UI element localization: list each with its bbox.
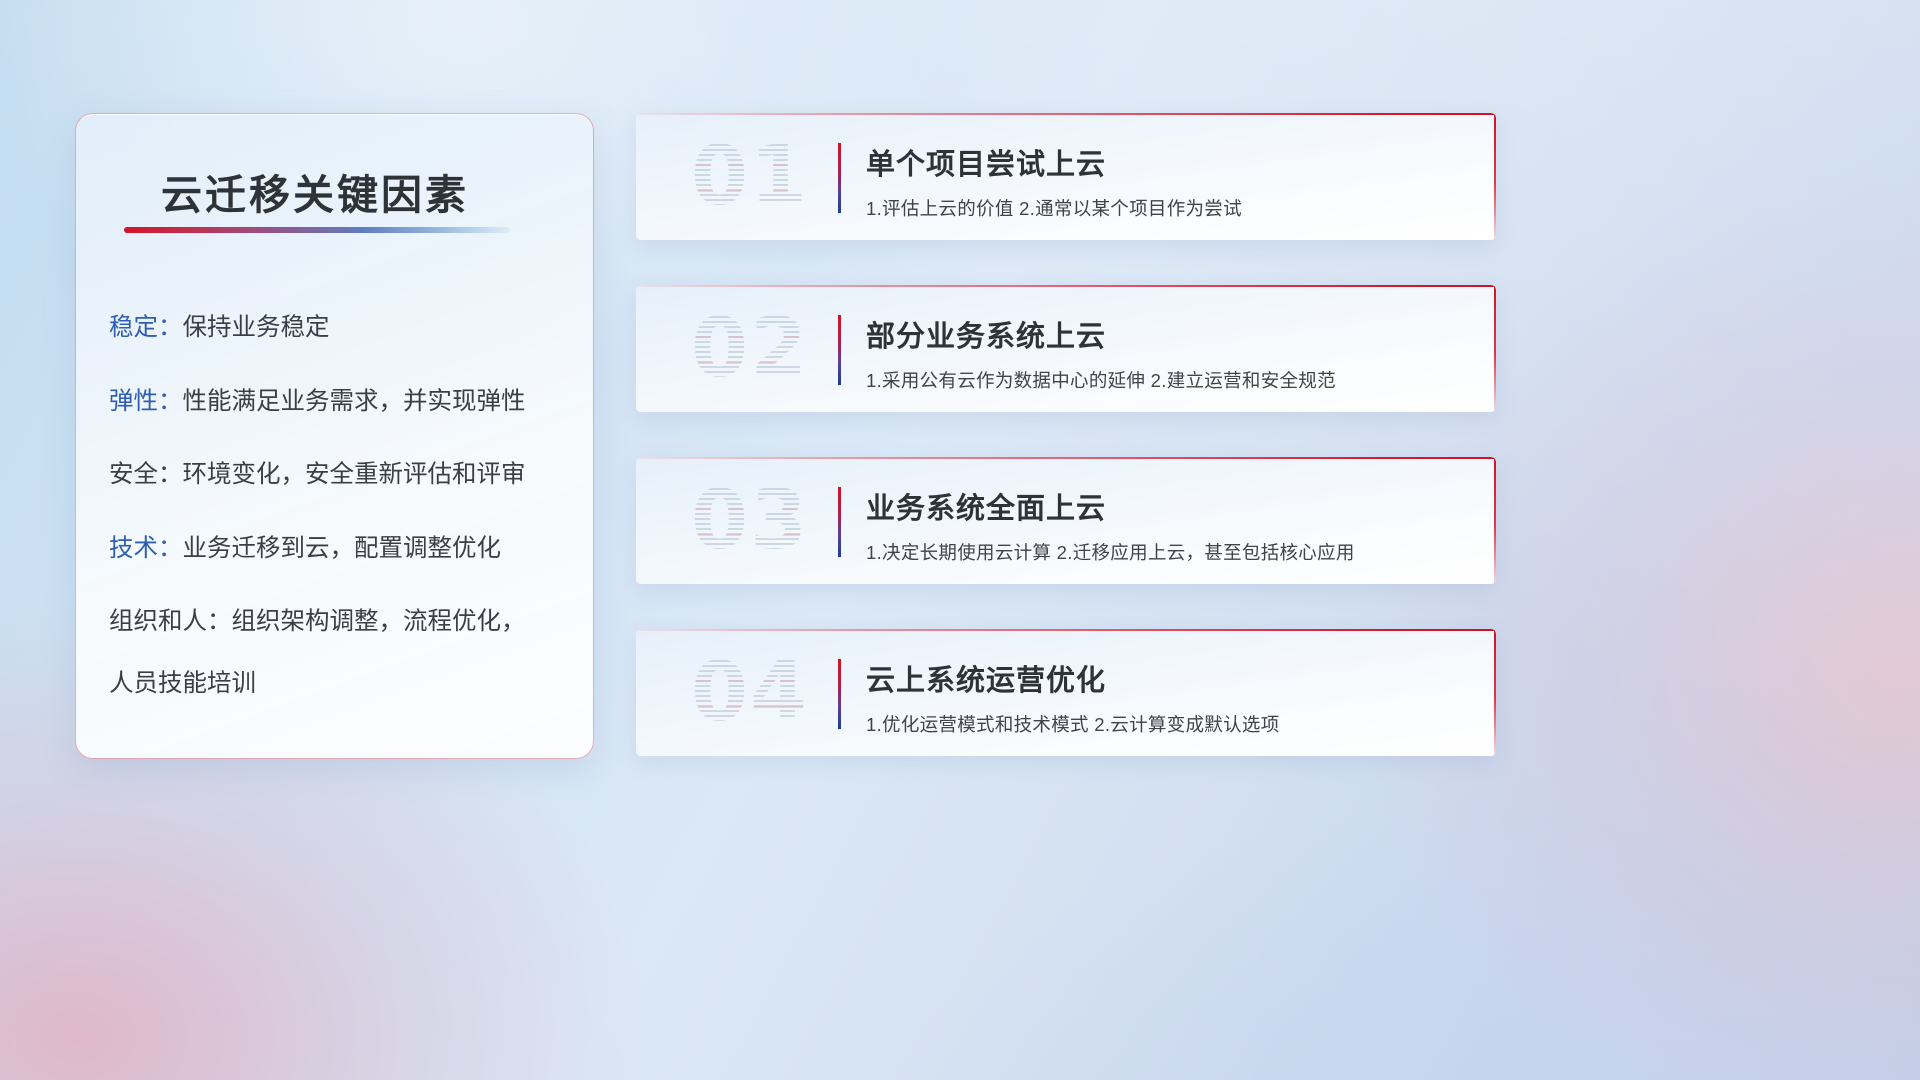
card-top-accent bbox=[636, 629, 1496, 631]
list-item-key: 技术： bbox=[109, 535, 183, 562]
list-item-key: 安全： bbox=[109, 461, 183, 488]
stage-title: 云上系统运营优化 bbox=[866, 657, 1106, 699]
stage-subtitle: 1.决定长期使用云计算 2.迁移应用上云，甚至包括核心应用 bbox=[866, 539, 1355, 565]
stage-number-watermark-tint: 03 bbox=[672, 473, 828, 569]
card-divider-bar bbox=[838, 659, 841, 729]
card-divider-bar bbox=[838, 487, 841, 557]
list-item-text: 业务迁移到云，配置调整优化 bbox=[183, 535, 502, 562]
list-item-key: 稳定： bbox=[109, 314, 183, 341]
list-item: 组织和人：组织架构调整，流程优化， bbox=[109, 610, 575, 635]
list-item: 技术：业务迁移到云，配置调整优化 bbox=[109, 537, 575, 562]
stage-number-watermark-tint: 04 bbox=[672, 645, 828, 741]
list-item-text: 环境变化，安全重新评估和评审 bbox=[183, 461, 526, 488]
card-right-accent bbox=[1494, 113, 1496, 240]
list-item-text: 性能满足业务需求，并实现弹性 bbox=[183, 388, 526, 415]
list-item: 安全：环境变化，安全重新评估和评审 bbox=[109, 463, 575, 488]
list-item: 弹性：性能满足业务需求，并实现弹性 bbox=[109, 390, 575, 415]
stage-card[interactable]: 04 04 云上系统运营优化 1.优化运营模式和技术模式 2.云计算变成默认选项 bbox=[636, 629, 1496, 756]
list-item-text: 组织架构调整，流程优化， bbox=[232, 608, 526, 635]
card-divider-bar bbox=[838, 315, 841, 385]
list-item-text: 保持业务稳定 bbox=[183, 314, 330, 341]
list-item-continuation: 人员技能培训 bbox=[109, 672, 575, 697]
stage-number-watermark-tint: 02 bbox=[672, 301, 828, 397]
stage-card[interactable]: 02 02 部分业务系统上云 1.采用公有云作为数据中心的延伸 2.建立运营和安… bbox=[636, 285, 1496, 412]
card-right-accent bbox=[1494, 285, 1496, 412]
card-right-accent bbox=[1494, 629, 1496, 756]
stage-subtitle: 1.采用公有云作为数据中心的延伸 2.建立运营和安全规范 bbox=[866, 367, 1336, 393]
panel-title: 云迁移关键因素 bbox=[161, 161, 469, 221]
stage-title: 单个项目尝试上云 bbox=[866, 141, 1106, 183]
stage-number-watermark-tint: 01 bbox=[672, 129, 828, 225]
list-item: 稳定：保持业务稳定 bbox=[109, 316, 575, 341]
stage-subtitle: 1.优化运营模式和技术模式 2.云计算变成默认选项 bbox=[866, 711, 1280, 737]
list-item-key: 组织和人： bbox=[109, 608, 232, 635]
stage-subtitle: 1.评估上云的价值 2.通常以某个项目作为尝试 bbox=[866, 195, 1242, 221]
list-item-text: 人员技能培训 bbox=[109, 670, 256, 697]
card-right-accent bbox=[1494, 457, 1496, 584]
stage-title: 部分业务系统上云 bbox=[866, 313, 1106, 355]
card-top-accent bbox=[636, 457, 1496, 459]
key-factors-list: 稳定：保持业务稳定 弹性：性能满足业务需求，并实现弹性 安全：环境变化，安全重新… bbox=[109, 316, 575, 696]
card-top-accent bbox=[636, 285, 1496, 287]
stage-card[interactable]: 01 01 单个项目尝试上云 1.评估上云的价值 2.通常以某个项目作为尝试 bbox=[636, 113, 1496, 240]
card-top-accent bbox=[636, 113, 1496, 115]
list-item-key: 弹性： bbox=[109, 388, 183, 415]
stage-card[interactable]: 03 03 业务系统全面上云 1.决定长期使用云计算 2.迁移应用上云，甚至包括… bbox=[636, 457, 1496, 584]
stage-title: 业务系统全面上云 bbox=[866, 485, 1106, 527]
card-divider-bar bbox=[838, 143, 841, 213]
migration-stages-list: 01 01 单个项目尝试上云 1.评估上云的价值 2.通常以某个项目作为尝试 0… bbox=[636, 113, 1496, 756]
key-factors-panel: 云迁移关键因素 稳定：保持业务稳定 弹性：性能满足业务需求，并实现弹性 安全：环… bbox=[75, 113, 594, 759]
title-underline-rule bbox=[124, 227, 510, 233]
